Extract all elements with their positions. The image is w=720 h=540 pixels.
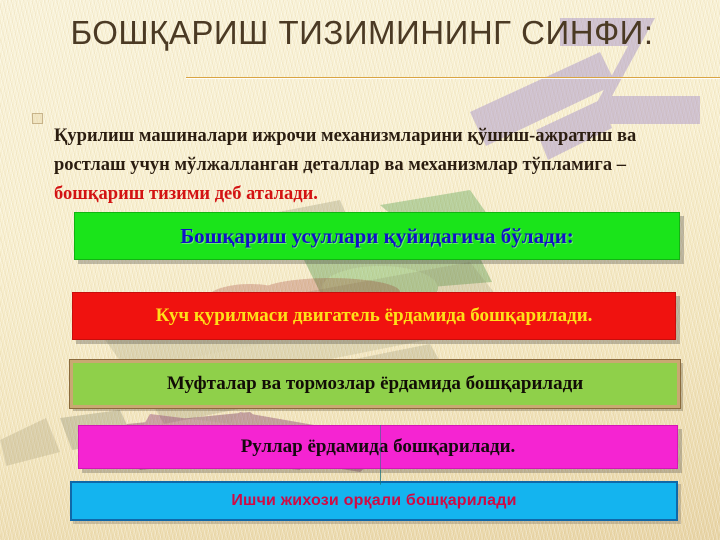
box-green-label: Бошқариш усуллари қуйидагича бўлади: [75,224,679,249]
paragraph-dash: – [617,155,626,175]
box-red-label: Куч қурилмаси двигатель ёрдамида бошқари… [73,305,675,327]
box-magenta-label: Руллар ёрдамида бошқарилади. [79,436,677,458]
page-title: БОШҚАРИШ ТИЗИМИНИНГ СИНФИ: [22,14,702,52]
box-red[interactable]: Куч қурилмаси двигатель ёрдамида бошқари… [72,292,676,340]
title-divider [186,77,720,78]
paragraph-part-1: Қурилиш машиналари ижрочи механизмларини… [54,126,636,175]
box-cyan-label: Ишчи жихози орқали бошқарилади [72,492,676,510]
box-magenta[interactable]: Руллар ёрдамида бошқарилади. [78,425,678,469]
paragraph-highlight: бошқариш тизими деб аталади. [54,184,318,204]
box-olive[interactable]: Муфталар ва тормозлар ёрдамида бошқарила… [70,360,680,408]
slide-canvas: БОШҚАРИШ ТИЗИМИНИНГ СИНФИ: Қурилиш машин… [0,0,720,540]
square-bullet-icon [32,113,43,124]
box-olive-label: Муфталар ва тормозлар ёрдамида бошқарила… [73,373,677,395]
box-cyan[interactable]: Ишчи жихози орқали бошқарилади [70,481,678,521]
box-green[interactable]: Бошқариш усуллари қуйидагича бўлади: [74,212,680,260]
body-text-block: Қурилиш машиналари ижрочи механизмларини… [26,103,694,227]
body-paragraph: Қурилиш машиналари ижрочи механизмларини… [54,122,694,209]
